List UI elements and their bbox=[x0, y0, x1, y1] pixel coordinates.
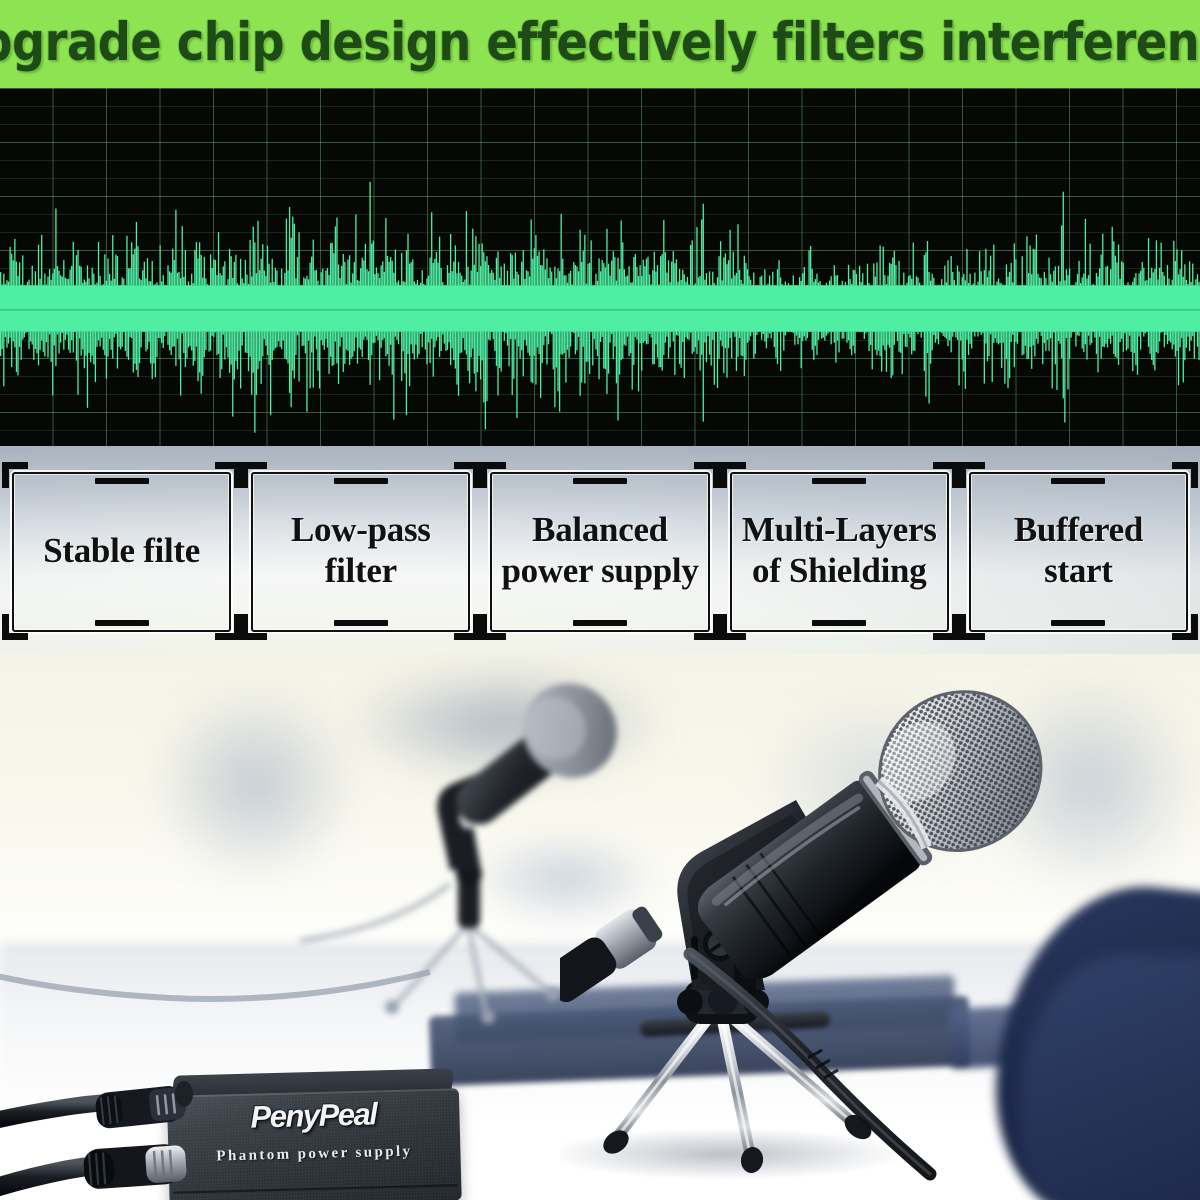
product-marketing-image: Upgrade chip design effectively filters … bbox=[0, 0, 1200, 1200]
badge-tick-bottom bbox=[95, 620, 149, 626]
feature-badge-multi-layers-shielding[interactable]: Multi-Layersof Shielding bbox=[724, 462, 955, 640]
badge-corner-bracket-bl bbox=[2, 614, 28, 640]
feature-badge-label: Low-passfilter bbox=[291, 510, 431, 591]
badge-corner-bracket-tl bbox=[2, 462, 28, 488]
product-photo: PenyPeal Phantom power supply bbox=[0, 654, 1200, 1200]
page-title: Upgrade chip design effectively filters … bbox=[0, 16, 1200, 73]
badge-tick-bottom bbox=[1051, 620, 1105, 626]
waveform-graphic bbox=[0, 88, 1200, 446]
badge-tick-top bbox=[334, 478, 388, 484]
badge-corner-bracket-bl bbox=[480, 614, 506, 640]
header-banner: Upgrade chip design effectively filters … bbox=[0, 0, 1200, 88]
feature-badge-balanced-power-supply[interactable]: Balancedpower supply bbox=[484, 462, 715, 640]
badge-corner-bracket-tl bbox=[959, 462, 985, 488]
badge-tick-top bbox=[812, 478, 866, 484]
badge-corner-bracket-br bbox=[694, 614, 720, 640]
badge-corner-bracket-tr bbox=[1172, 462, 1198, 488]
badge-corner-bracket-tl bbox=[480, 462, 506, 488]
badge-corner-bracket-tr bbox=[215, 462, 241, 488]
badge-corner-bracket-tl bbox=[241, 462, 267, 488]
badge-corner-bracket-tl bbox=[720, 462, 746, 488]
feature-badge-buffered-start[interactable]: Bufferedstart bbox=[963, 462, 1194, 640]
badge-corner-bracket-br bbox=[215, 614, 241, 640]
feature-badges-strip: Stable filteLow-passfilterBalancedpower … bbox=[0, 446, 1200, 654]
feature-badge-stable-filter[interactable]: Stable filte bbox=[6, 462, 237, 640]
badge-corner-bracket-br bbox=[1172, 614, 1198, 640]
audio-waveform-panel bbox=[0, 88, 1200, 446]
badge-corner-bracket-bl bbox=[959, 614, 985, 640]
badge-tick-bottom bbox=[573, 620, 627, 626]
badge-corner-bracket-br bbox=[454, 614, 480, 640]
badge-tick-bottom bbox=[334, 620, 388, 626]
feature-badges-row: Stable filteLow-passfilterBalancedpower … bbox=[0, 446, 1200, 654]
badge-corner-bracket-bl bbox=[241, 614, 267, 640]
badge-tick-top bbox=[1051, 478, 1105, 484]
feature-badge-low-pass-filter[interactable]: Low-passfilter bbox=[245, 462, 476, 640]
badge-corner-bracket-tr bbox=[454, 462, 480, 488]
cables-and-connectors bbox=[0, 654, 1200, 1200]
badge-corner-bracket-tr bbox=[694, 462, 720, 488]
feature-badge-label: Multi-Layersof Shielding bbox=[742, 510, 937, 591]
badge-corner-bracket-br bbox=[933, 614, 959, 640]
badge-tick-bottom bbox=[812, 620, 866, 626]
badge-tick-top bbox=[573, 478, 627, 484]
feature-badge-label: Bufferedstart bbox=[1014, 510, 1143, 591]
badge-corner-bracket-tr bbox=[933, 462, 959, 488]
feature-badge-label: Balancedpower supply bbox=[501, 510, 698, 591]
badge-tick-top bbox=[95, 478, 149, 484]
badge-corner-bracket-bl bbox=[720, 614, 746, 640]
feature-badge-label: Stable filte bbox=[43, 531, 200, 572]
